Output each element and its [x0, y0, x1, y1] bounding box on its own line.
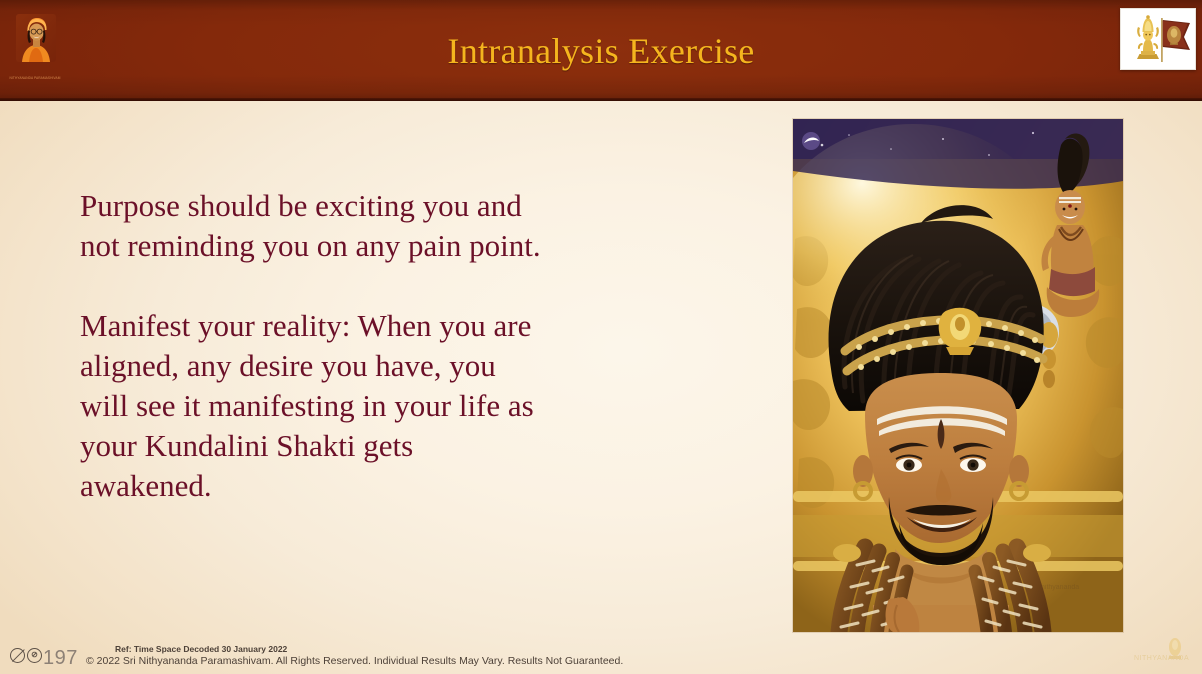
page-number: 197 — [43, 647, 78, 670]
footer-text-block: Ref: Time Space Decoded 30 January 2022 … — [86, 644, 623, 668]
slide-title: Intranalysis Exercise — [0, 0, 1202, 101]
header-right-logo — [1120, 8, 1196, 70]
slide-body-text: Purpose should be exciting you and not r… — [80, 186, 550, 506]
footer-copyright: © 2022 Sri Nithyananda Paramashivam. All… — [86, 655, 623, 668]
svg-text:NITHYANANDA: NITHYANANDA — [1134, 655, 1189, 662]
license-icons: ⊘ — [10, 648, 42, 663]
paragraph-1: Purpose should be exciting you and not r… — [80, 186, 550, 266]
slide-header: NITHYANANDA PARAMASHIVAM Intranalysis Ex… — [0, 0, 1202, 101]
footer-reference: Ref: Time Space Decoded 30 January 2022 — [115, 644, 623, 655]
guru-portrait-photo: nithyananda — [793, 119, 1123, 632]
paragraph-2: Manifest your reality: When you are alig… — [80, 306, 550, 506]
svg-text:nithyananda: nithyananda — [1041, 584, 1079, 591]
no-derivatives-icon — [10, 648, 25, 663]
kailasa-emblem-flag-logo-icon — [1121, 9, 1196, 70]
slide-footer: ⊘ 197 Ref: Time Space Decoded 30 January… — [0, 634, 1202, 674]
nithyananda-watermark-icon: NITHYANANDA — [1130, 634, 1194, 668]
non-commercial-icon: ⊘ — [27, 648, 42, 663]
